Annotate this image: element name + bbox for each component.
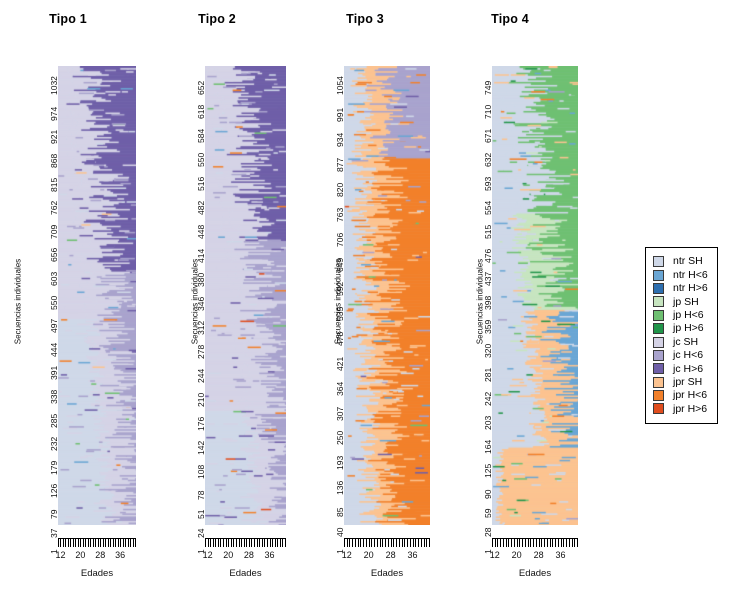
sequence-index-plot [205, 66, 286, 525]
legend-item-ntr-h-6: ntr H>6 [653, 282, 708, 295]
legend-label: ntr SH [673, 256, 703, 267]
legend-label: jc SH [673, 337, 698, 348]
legend-label: jp H<6 [673, 310, 704, 321]
legend-swatch-icon [653, 377, 664, 388]
xtick-label: 12 [490, 550, 500, 560]
xaxis-title: Edades [58, 568, 136, 579]
legend-swatch-icon [653, 350, 664, 361]
ytick-label: 974 [49, 91, 59, 121]
panel-title: Tipo 1 [0, 12, 136, 26]
xtick-label: 12 [55, 550, 65, 560]
xtick-label: 12 [342, 550, 352, 560]
sequence-index-plot [344, 66, 430, 525]
plot-area [492, 66, 578, 525]
legend-swatch-icon [653, 363, 664, 374]
legend-label: ntr H<6 [673, 270, 708, 281]
xtick-label: 20 [364, 550, 374, 560]
figure-canvas: Secuencias individuales Secuencias indiv… [0, 0, 739, 603]
panel-title: Tipo 4 [434, 12, 586, 26]
legend-item-jpr-h-6: jpr H<6 [653, 389, 708, 402]
panel-title: Tipo 3 [291, 12, 439, 26]
legend-label: jp SH [673, 297, 699, 308]
xtick-label: 36 [408, 550, 418, 560]
legend-item-jp-h-6: jp H>6 [653, 322, 708, 335]
legend-item-jc-h-6: jc H>6 [653, 362, 708, 375]
xaxis-tickmarks [58, 538, 136, 549]
ytick-label: 749 [483, 65, 493, 95]
panel-tipo-1: Tipo 11377912617923228533839144449755060… [0, 0, 136, 603]
sequence-index-plot [492, 66, 578, 525]
xaxis-title: Edades [205, 568, 286, 579]
legend: ntr SHntr H<6ntr H>6jp SHjp H<6jp H>6jc … [645, 247, 718, 424]
panel-tipo-4: Tipo 41285990125164203242281320359398437… [434, 0, 586, 603]
ytick-label: 991 [335, 92, 345, 122]
legend-item-ntr-sh: ntr SH [653, 255, 708, 268]
xtick-label: 12 [203, 550, 213, 560]
xtick-label: 36 [115, 550, 125, 560]
legend-swatch-icon [653, 283, 664, 294]
xtick-label: 28 [95, 550, 105, 560]
legend-swatch-icon [653, 310, 664, 321]
xaxis-title: Edades [344, 568, 430, 579]
legend-item-jc-h-6: jc H<6 [653, 349, 708, 362]
legend-item-ntr-h-6: ntr H<6 [653, 268, 708, 281]
legend-label: ntr H>6 [673, 283, 708, 294]
xtick-label: 20 [512, 550, 522, 560]
legend-item-jpr-sh: jpr SH [653, 376, 708, 389]
xaxis-line [205, 538, 286, 539]
legend-label: jc H>6 [673, 364, 703, 375]
xtick-label: 20 [223, 550, 233, 560]
panel-tipo-2: Tipo 21245178108142176210244278312346380… [143, 0, 291, 603]
legend-swatch-icon [653, 323, 664, 334]
legend-item-jc-sh: jc SH [653, 335, 708, 348]
legend-label: jp H>6 [673, 323, 704, 334]
xtick-label: 28 [534, 550, 544, 560]
legend-item-jp-sh: jp SH [653, 295, 708, 308]
xaxis-tickmarks [344, 538, 430, 549]
xaxis-line [58, 538, 136, 539]
legend-item-jpr-h-6: jpr H>6 [653, 402, 708, 415]
legend-label: jpr SH [673, 377, 702, 388]
xaxis-tickmarks [205, 538, 286, 549]
legend-item-jp-h-6: jp H<6 [653, 309, 708, 322]
ytick-label: 1032 [49, 65, 59, 95]
xaxis-tickmarks [492, 538, 578, 549]
legend-swatch-icon [653, 337, 664, 348]
xaxis-line [492, 538, 578, 539]
plot-area [205, 66, 286, 525]
panel-tipo-3: Tipo 31408513619325030736442147853559264… [291, 0, 439, 603]
xaxis-title: Edades [492, 568, 578, 579]
panel-title: Tipo 2 [143, 12, 291, 26]
legend-swatch-icon [653, 403, 664, 414]
xaxis-line [344, 538, 430, 539]
xtick-label: 20 [75, 550, 85, 560]
plot-area [344, 66, 430, 525]
xtick-label: 28 [386, 550, 396, 560]
ytick-label: 1054 [335, 65, 345, 95]
legend-swatch-icon [653, 270, 664, 281]
xtick-label: 28 [244, 550, 254, 560]
xtick-label: 36 [265, 550, 275, 560]
xtick-label: 36 [556, 550, 566, 560]
ytick-label: 652 [196, 65, 206, 95]
legend-swatch-icon [653, 256, 664, 267]
legend-label: jpr H<6 [673, 390, 707, 401]
legend-swatch-icon [653, 296, 664, 307]
legend-swatch-icon [653, 390, 664, 401]
sequence-index-plot [58, 66, 136, 525]
plot-area [58, 66, 136, 525]
legend-label: jpr H>6 [673, 404, 707, 415]
legend-label: jc H<6 [673, 350, 703, 361]
